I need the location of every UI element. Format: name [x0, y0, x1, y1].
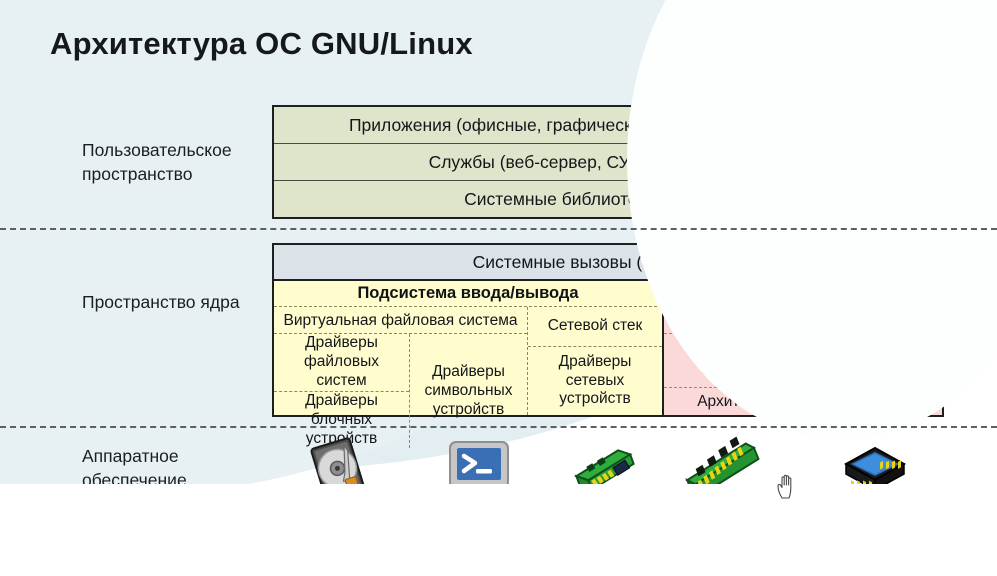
page-title: Архитектура ОС GNU/Linux: [50, 26, 473, 62]
label-user-space: Пользовательское пространство: [82, 138, 282, 186]
io-fs-drivers-cell: Драйверы файловых систем: [274, 334, 409, 392]
background-white-bottom: [0, 484, 997, 576]
divider-user-kernel: [0, 228, 997, 230]
io-subsystem-heading: Подсистема ввода/вывода: [274, 281, 662, 307]
io-subsystem: Подсистема ввода/вывода Виртуальная файл…: [274, 281, 664, 415]
io-network-drivers-cell: Драйверы сетевых устройств: [528, 347, 662, 415]
io-vfs-cell: Виртуальная файловая система: [274, 307, 527, 334]
io-network-stack-cell: Сетевой стек: [528, 307, 662, 347]
label-kernel-space: Пространство ядра: [82, 290, 282, 314]
divider-kernel-hardware: [0, 426, 997, 428]
hand-cursor: [776, 474, 798, 500]
slide-canvas: Архитектура ОС GNU/Linux ★ ASTRA LIN Пол…: [0, 0, 997, 576]
io-char-drivers-cell: Драйверы символьных устройств: [410, 334, 527, 448]
